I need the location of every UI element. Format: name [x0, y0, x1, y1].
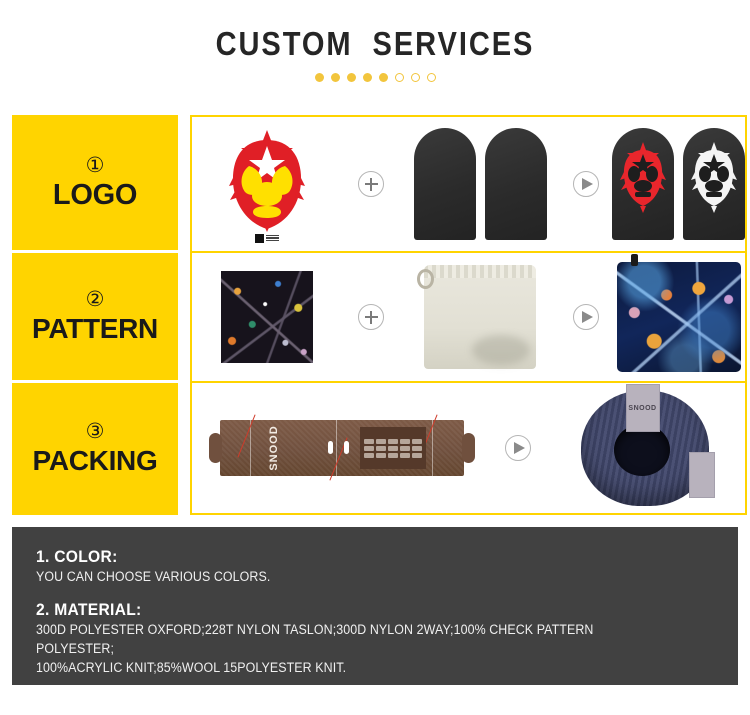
dot-3	[347, 73, 356, 82]
hang-tag-side	[689, 452, 715, 498]
galaxy-printed-drawstring-bag	[617, 262, 741, 372]
blank-neck-gaiter-right	[485, 128, 547, 240]
color-body: YOU CAN CHOOSE VARIOUS COLORS.	[36, 567, 660, 586]
kraft-packaging-sleeve: SNOOD	[220, 420, 464, 476]
dot-8	[427, 73, 436, 82]
service-label-logo: ① LOGO	[12, 115, 178, 253]
galaxy-fabric-swatch	[221, 271, 313, 363]
sleeve-brand-text: SNOOD	[268, 425, 280, 470]
column-gap	[178, 115, 190, 515]
page-title: CUSTOM SERVICES	[45, 24, 705, 64]
step-number-1: ①	[86, 155, 105, 177]
arrow-operator-pattern	[560, 253, 612, 381]
plus-operator-logo	[342, 117, 400, 251]
material-line-1: 300D POLYESTER OXFORD;228T NYLON TASLON;…	[36, 620, 660, 658]
arrow-right-icon	[573, 171, 599, 197]
decorative-dot-row	[0, 73, 750, 82]
blank-gaiter-slot	[400, 117, 560, 251]
dot-4	[363, 73, 372, 82]
arrow-operator-packing	[492, 383, 544, 513]
page-header: CUSTOM SERVICES	[0, 0, 750, 82]
content-row-packing: SNOOD SNOOD	[192, 383, 745, 513]
blank-pouch-slot	[400, 253, 560, 381]
service-content-column: SNOOD SNOOD	[190, 115, 747, 515]
service-label-packing: ③ PACKING	[12, 383, 178, 515]
pattern-swatch-slot	[192, 253, 342, 381]
plus-operator-pattern	[342, 253, 400, 381]
dot-6	[395, 73, 404, 82]
finished-snood-slot: SNOOD	[544, 383, 745, 513]
service-label-text-logo: LOGO	[53, 179, 137, 211]
navy-knit-snood-with-tags: SNOOD	[581, 390, 709, 506]
material-line-2: 100%ACRYLIC KNIT;85%WOOL 15POLYESTER KNI…	[36, 658, 660, 677]
content-row-logo	[192, 117, 745, 253]
content-row-pattern	[192, 253, 745, 383]
arrow-right-icon	[573, 304, 599, 330]
luchador-mask-logo-icon	[219, 126, 315, 232]
service-label-text-pattern: PATTERN	[32, 313, 158, 345]
dot-1	[315, 73, 324, 82]
step-number-2: ②	[86, 289, 105, 311]
dot-5	[379, 73, 388, 82]
hang-tag-top: SNOOD	[626, 384, 660, 432]
custom-services-table: ① LOGO ② PATTERN ③ PACKING	[12, 115, 738, 515]
plus-icon	[358, 304, 384, 330]
logo-color-chip	[255, 234, 279, 243]
white-mask-print-icon	[683, 128, 745, 240]
plus-icon	[358, 171, 384, 197]
specs-panel: 1. COLOR: YOU CAN CHOOSE VARIOUS COLORS.…	[12, 527, 738, 685]
service-label-text-packing: PACKING	[33, 445, 158, 477]
blank-neck-gaiter-left	[414, 128, 476, 240]
printed-gaiter-slot	[612, 117, 745, 251]
drawstring-cinch-icon	[417, 269, 434, 289]
material-heading: 2. MATERIAL:	[36, 600, 660, 620]
bag-tie-icon	[631, 254, 638, 266]
arrow-operator-logo	[560, 117, 612, 251]
dot-7	[411, 73, 420, 82]
service-label-pattern: ② PATTERN	[12, 253, 178, 383]
service-label-column: ① LOGO ② PATTERN ③ PACKING	[12, 115, 178, 515]
printed-neck-gaiter-red	[612, 128, 674, 240]
color-heading: 1. COLOR:	[36, 547, 660, 567]
printed-bag-slot	[612, 253, 745, 381]
packaging-sleeve-slot: SNOOD	[192, 383, 492, 513]
cream-drawstring-pouch	[424, 265, 536, 369]
care-instruction-block	[360, 427, 426, 469]
dot-2	[331, 73, 340, 82]
step-number-3: ③	[86, 421, 105, 443]
arrow-right-icon	[505, 435, 531, 461]
printed-neck-gaiter-white	[683, 128, 745, 240]
red-mask-print-icon	[612, 128, 674, 240]
logo-artwork-slot	[192, 117, 342, 251]
